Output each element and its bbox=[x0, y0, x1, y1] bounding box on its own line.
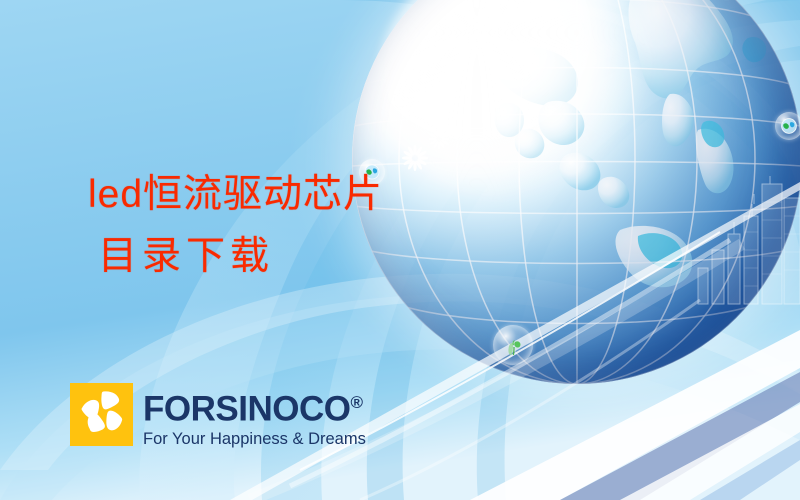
starburst-petals-small bbox=[428, 128, 450, 150]
headline-line-2: 目录下载 bbox=[88, 226, 383, 288]
registered-trademark-icon: ® bbox=[350, 393, 362, 412]
promo-banner: led恒流驱动芯片 目录下载 FORSINOCO® For Your Happ bbox=[0, 0, 800, 500]
flower-petals bbox=[70, 383, 133, 446]
company-logo: FORSINOCO® For Your Happiness & Dreams bbox=[70, 383, 366, 449]
starburst-right-icon bbox=[428, 128, 450, 155]
bubble-plant bbox=[493, 325, 533, 365]
green-plant-icon bbox=[501, 333, 525, 357]
bubble-globe-edge bbox=[775, 112, 800, 140]
mini-globe-icon-edge bbox=[781, 118, 797, 134]
company-tagline: For Your Happiness & Dreams bbox=[143, 429, 366, 449]
starburst-left-icon bbox=[402, 145, 428, 176]
four-petal-flower-icon bbox=[70, 383, 133, 446]
skyline-shapes bbox=[684, 176, 800, 306]
headline-text: led恒流驱动芯片 目录下载 bbox=[88, 164, 383, 288]
city-skyline-icon bbox=[684, 176, 800, 306]
starburst-petals bbox=[402, 145, 428, 171]
logo-text-block: FORSINOCO® For Your Happiness & Dreams bbox=[143, 383, 366, 449]
company-name: FORSINOCO® bbox=[143, 384, 366, 428]
company-name-text: FORSINOCO bbox=[143, 390, 350, 429]
headline-line-1: led恒流驱动芯片 bbox=[88, 173, 383, 216]
